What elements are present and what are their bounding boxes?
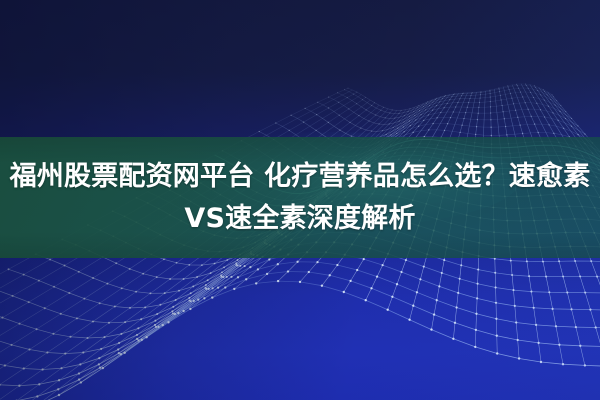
banner-image: 福州股票配资网平台 化疗营养品怎么选？速愈素VS速全素深度解析 [0,0,600,400]
page-title: 福州股票配资网平台 化疗营养品怎么选？速愈素VS速全素深度解析 [7,156,593,240]
title-band: 福州股票配资网平台 化疗营养品怎么选？速愈素VS速全素深度解析 [0,137,600,258]
